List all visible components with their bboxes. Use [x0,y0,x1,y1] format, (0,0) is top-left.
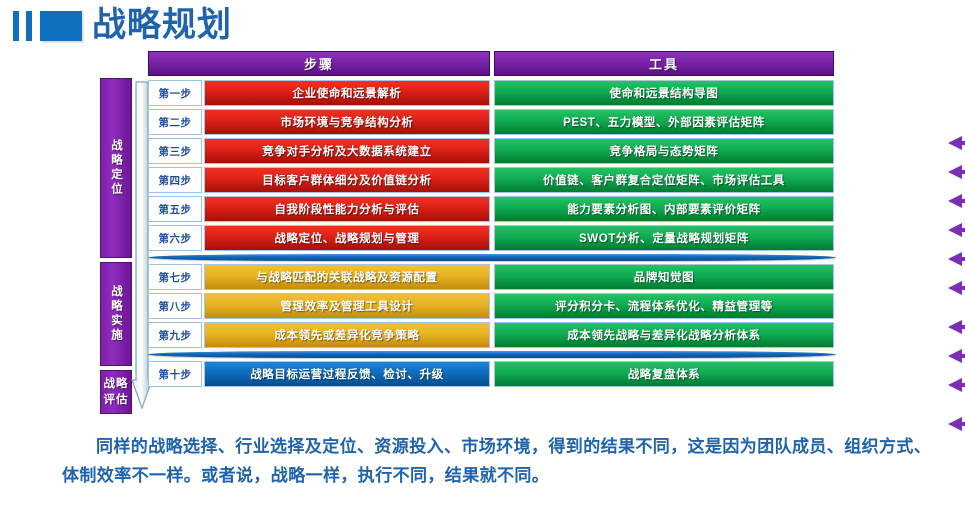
tool-cell[interactable]: PEST、五力模型、外部因素评估矩阵 [494,109,834,135]
section-label-evaluation-line2: 评估 [104,392,129,408]
step-number-label: 第八步 [159,299,192,314]
step-description-cell[interactable]: 企业使命和远景解析 [204,80,490,106]
page-title: 战略规划 [92,2,232,48]
section-block-evaluation: 战略 评估 [100,370,132,414]
column-header-tools-label: 工具 [649,54,679,73]
column-header-steps-label: 步骤 [304,54,334,73]
step-number-cell[interactable]: 第二步 [148,109,202,135]
feedback-arrow-icon [948,349,965,363]
tool-label: SWOT分析、定量战略规划矩阵 [579,230,749,246]
step-number-cell[interactable]: 第四步 [148,167,202,193]
feedback-arrow-icon [948,417,965,431]
table-row: 第九步成本领先或差异化竞争策略成本领先战略与差异化战略分析体系 [148,322,834,348]
tool-label: 能力要素分析图、内部要素评价矩阵 [567,201,761,217]
column-header-steps: 步骤 [148,51,490,76]
section-divider-lens [148,351,836,358]
slide-canvas: 战略规划 战略定位 战略实施 战略 评估 [0,0,965,514]
tool-cell[interactable]: 战略复盘体系 [494,361,834,387]
tool-label: 战略复盘体系 [628,366,701,382]
table-row: 第三步竞争对手分析及大数据系统建立竞争格局与态势矩阵 [148,138,834,164]
tool-label: 成本领先战略与差异化战略分析体系 [567,327,761,343]
feedback-arrows-icon [940,100,965,468]
step-description-label: 竞争对手分析及大数据系统建立 [262,143,431,159]
table-row: 第十步战略目标运营过程反馈、检讨、升级战略复盘体系 [148,361,834,387]
tool-label: 价值链、客户群复合定位矩阵、市场评估工具 [543,172,785,188]
feedback-arrow-icon [948,194,965,208]
step-description-cell[interactable]: 自我阶段性能力分析与评估 [204,196,490,222]
table-row: 第五步自我阶段性能力分析与评估能力要素分析图、内部要素评价矩阵 [148,196,834,222]
column-header-tools: 工具 [494,51,834,76]
table-row: 第一步企业使命和远景解析使命和远景结构导图 [148,80,834,106]
logo-bar-icon [26,11,32,41]
feedback-arrow-icon [948,281,965,295]
title-bar: 战略规划 [0,0,965,52]
tool-cell[interactable]: 能力要素分析图、内部要素评价矩阵 [494,196,834,222]
step-number-label: 第五步 [159,202,192,217]
section-block-implementation: 战略实施 [100,262,132,366]
step-number-label: 第六步 [159,231,192,246]
tool-cell[interactable]: 评分积分卡、流程体系优化、精益管理等 [494,293,834,319]
tool-label: 品牌知觉图 [634,269,695,285]
feedback-arrow-icon [948,136,965,150]
feedback-arrow-icon [948,252,965,266]
step-description-cell[interactable]: 管理效率及管理工具设计 [204,293,490,319]
step-number-cell[interactable]: 第一步 [148,80,202,106]
table-row: 第六步战略定位、战略规划与管理SWOT分析、定量战略规划矩阵 [148,225,834,251]
step-number-cell[interactable]: 第八步 [148,293,202,319]
tool-label: 评分积分卡、流程体系优化、精益管理等 [555,298,773,314]
tool-label: PEST、五力模型、外部因素评估矩阵 [563,114,765,130]
step-description-cell[interactable]: 成本领先或差异化竞争策略 [204,322,490,348]
step-number-cell[interactable]: 第十步 [148,361,202,387]
step-description-cell[interactable]: 战略定位、战略规划与管理 [204,225,490,251]
feedback-arrow-icon [948,223,965,237]
logo-block-icon [40,11,82,41]
step-description-label: 目标客户群体细分及价值链分析 [262,172,431,188]
tool-label: 使命和远景结构导图 [610,85,719,101]
step-description-cell[interactable]: 市场环境与竞争结构分析 [204,109,490,135]
section-label-positioning: 战略定位 [108,139,124,197]
section-label-evaluation: 战略 评估 [104,376,129,408]
table-row: 第八步管理效率及管理工具设计评分积分卡、流程体系优化、精益管理等 [148,293,834,319]
tool-cell[interactable]: 价值链、客户群复合定位矩阵、市场评估工具 [494,167,834,193]
step-description-label: 战略目标运营过程反馈、检讨、升级 [250,366,444,382]
step-description-label: 管理效率及管理工具设计 [280,298,413,314]
tool-cell[interactable]: 使命和远景结构导图 [494,80,834,106]
tool-label: 竞争格局与态势矩阵 [610,143,719,159]
tool-cell[interactable]: SWOT分析、定量战略规划矩阵 [494,225,834,251]
logo-bar-icon [13,11,19,41]
body-paragraph: 同样的战略选择、行业选择及定位、资源投入、市场环境，得到的结果不同，这是因为团队… [62,432,942,490]
step-description-label: 成本领先或差异化竞争策略 [274,327,419,343]
step-description-cell[interactable]: 与战略匹配的关联战略及资源配置 [204,264,490,290]
step-description-label: 与战略匹配的关联战略及资源配置 [256,269,438,285]
step-number-label: 第九步 [159,328,192,343]
step-description-label: 自我阶段性能力分析与评估 [274,201,419,217]
strategy-process-diagram: 战略定位 战略实施 战略 评估 步骤 [100,50,840,418]
tool-cell[interactable]: 品牌知觉图 [494,264,834,290]
step-number-label: 第十步 [159,367,192,382]
step-description-cell[interactable]: 目标客户群体细分及价值链分析 [204,167,490,193]
step-description-cell[interactable]: 战略目标运营过程反馈、检讨、升级 [204,361,490,387]
step-description-label: 企业使命和远景解析 [293,85,402,101]
section-block-positioning: 战略定位 [100,78,132,258]
step-description-cell[interactable]: 竞争对手分析及大数据系统建立 [204,138,490,164]
step-description-label: 市场环境与竞争结构分析 [280,114,413,130]
step-number-cell[interactable]: 第六步 [148,225,202,251]
table-row: 第二步市场环境与竞争结构分析PEST、五力模型、外部因素评估矩阵 [148,109,834,135]
section-divider [148,253,836,262]
step-number-label: 第七步 [159,270,192,285]
section-divider [148,350,836,359]
step-number-cell[interactable]: 第三步 [148,138,202,164]
tool-cell[interactable]: 成本领先战略与差异化战略分析体系 [494,322,834,348]
tool-cell[interactable]: 竞争格局与态势矩阵 [494,138,834,164]
feedback-arrow-icon [948,165,965,179]
step-description-label: 战略定位、战略规划与管理 [274,230,419,246]
table-row: 第七步与战略匹配的关联战略及资源配置品牌知觉图 [148,264,834,290]
step-number-label: 第二步 [159,115,192,130]
step-number-label: 第一步 [159,86,192,101]
step-number-cell[interactable]: 第七步 [148,264,202,290]
step-number-label: 第三步 [159,144,192,159]
table-row: 第四步目标客户群体细分及价值链分析价值链、客户群复合定位矩阵、市场评估工具 [148,167,834,193]
feedback-arrow-icon [948,378,965,392]
step-number-label: 第四步 [159,173,192,188]
section-label-implementation: 战略实施 [108,285,124,343]
section-label-evaluation-line1: 战略 [104,376,129,392]
section-divider-lens [148,254,836,261]
step-number-cell[interactable]: 第五步 [148,196,202,222]
step-number-cell[interactable]: 第九步 [148,322,202,348]
feedback-arrow-icon [948,320,965,334]
